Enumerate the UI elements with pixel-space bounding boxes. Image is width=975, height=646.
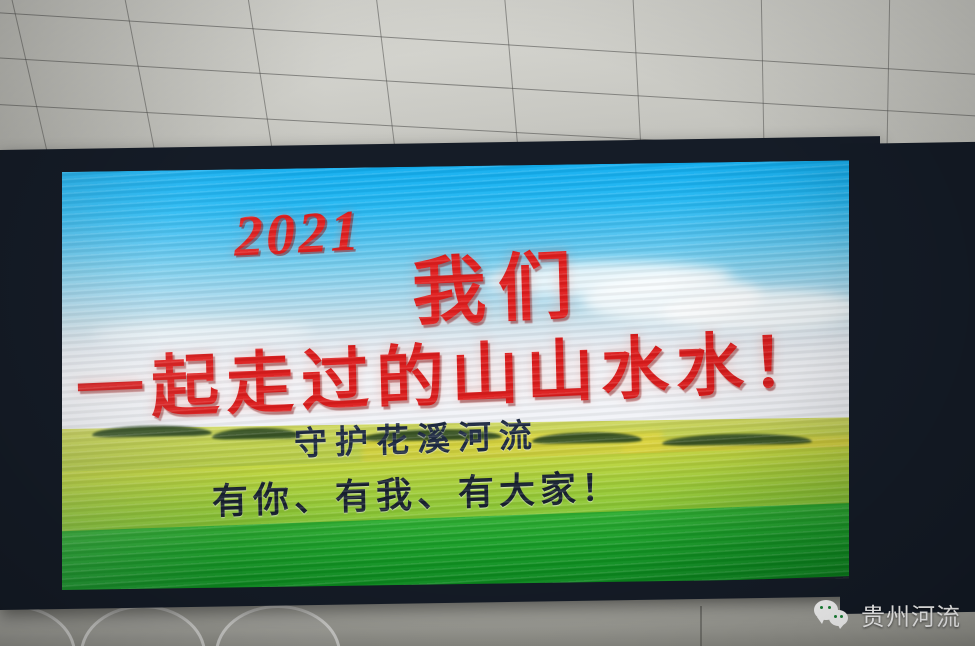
chair-back [80, 605, 206, 646]
chair-back [215, 605, 341, 646]
floor-seam [700, 606, 702, 646]
led-display-screen[interactable]: 2021 我们 一起走过的山山水水！ 守护花溪河流 有你、有我、有大家！ [62, 160, 849, 590]
led-display-bezel-right [840, 141, 975, 614]
wechat-icon [814, 600, 852, 630]
wechat-watermark: 贵州河流 [814, 597, 961, 632]
screenshot-root: 2021 我们 一起走过的山山水水！ 守护花溪河流 有你、有我、有大家！ 贵州河… [0, 0, 975, 646]
year-label: 2021 [233, 201, 363, 265]
chair-back [0, 605, 76, 646]
wechat-account-name: 贵州河流 [861, 597, 961, 632]
headline-line-1: 我们 [411, 250, 585, 331]
